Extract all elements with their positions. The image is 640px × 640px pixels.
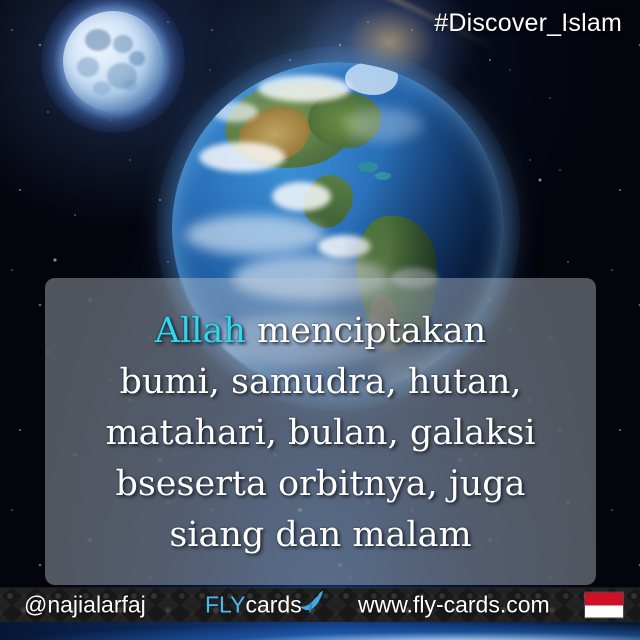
footer-bar: @najialarfaj FLYcards www.fly-cards.com (0, 588, 640, 622)
author-handle[interactable]: @najialarfaj (24, 592, 146, 619)
bottom-glow (0, 622, 640, 640)
website-url[interactable]: www.fly-cards.com (358, 592, 550, 619)
quote-line-4: bseserta orbitnya, juga (115, 459, 525, 510)
flag-stripe-red (585, 593, 623, 606)
quote-text-block: Allah menciptakan bumi, samudra, hutan, … (45, 278, 596, 585)
hashtag-label: #Discover_Islam (434, 9, 622, 38)
bird-icon (297, 590, 325, 616)
moon-icon (63, 11, 163, 111)
indonesia-flag-icon (584, 592, 624, 619)
quote-line-1-rest: menciptakan (246, 311, 486, 351)
quote-line-5: siang dan malam (169, 510, 471, 561)
quote-line-2: bumi, samudra, hutan, (119, 357, 521, 408)
brand-logo-fly: FLY (205, 592, 245, 618)
moon-disc (63, 11, 163, 111)
brand-logo-cards: cards (245, 592, 301, 618)
brand-logo[interactable]: FLYcards (205, 592, 302, 619)
quote-highlight-allah: Allah (155, 311, 246, 351)
islamic-quote-card: #Discover_Islam Allah menciptakan bumi, … (0, 0, 640, 640)
quote-line-1: Allah menciptakan (155, 306, 486, 357)
flag-stripe-white (585, 605, 623, 618)
quote-line-3: matahari, bulan, galaksi (105, 408, 535, 459)
